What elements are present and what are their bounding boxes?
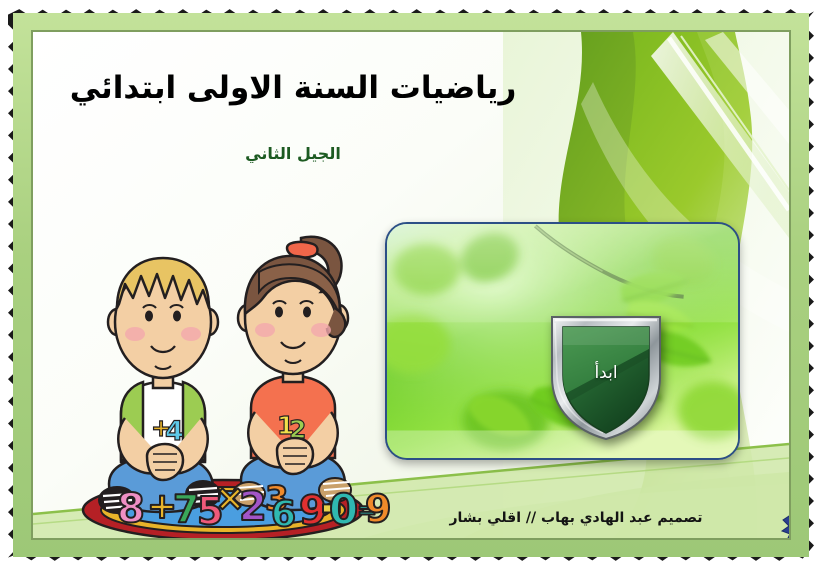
- svg-text:0: 0: [329, 485, 358, 534]
- designer-credit: تصميم عبد الهادي بهاب // اقلي بشار: [411, 510, 741, 526]
- svg-text:2: 2: [239, 484, 267, 530]
- svg-text:9: 9: [365, 487, 391, 531]
- girl-figure: 1 2: [233, 237, 351, 510]
- slide-canvas: رياضيات السنة الاولى ابتدائي الجيل الثان…: [33, 32, 789, 538]
- start-button[interactable]: [547, 313, 665, 441]
- page-subtitle: الجيل الثاني: [33, 144, 553, 163]
- svg-text:8: 8: [117, 486, 145, 532]
- boy-figure: + 4: [99, 258, 220, 513]
- floor-number-toys: 8 + 7 5 × 2 3 6 9 ▬ 0 = 9: [117, 478, 391, 535]
- svg-text:6: 6: [271, 494, 296, 535]
- page-title: رياضيات السنة الاولى ابتدائي: [33, 70, 553, 106]
- children-illustration: + 4: [73, 222, 403, 538]
- svg-text:7: 7: [173, 487, 199, 531]
- facebook-icon[interactable]: [777, 500, 789, 538]
- presentation-slide: رياضيات السنة الاولى ابتدائي الجيل الثان…: [0, 0, 822, 570]
